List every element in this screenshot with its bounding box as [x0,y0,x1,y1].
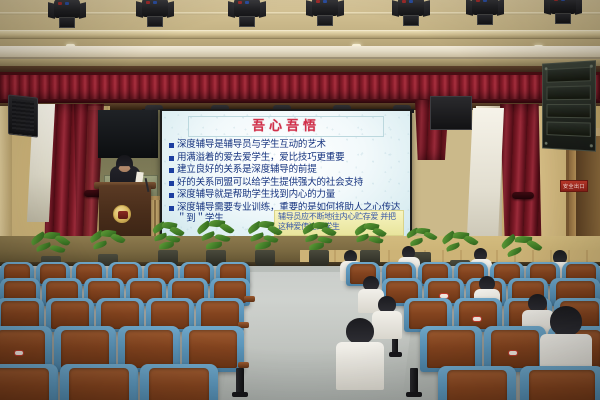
ceiling-soffit [0,46,600,59]
bullet-square-icon [169,181,174,186]
bullet-text: 深度辅导是辅导员与学生互动的艺术 [177,139,326,151]
auditorium-seat[interactable] [438,366,516,400]
auditorium-seat[interactable] [0,364,58,400]
stage-spotlight-icon [396,0,426,28]
seat-foot [406,392,422,397]
audience-member [336,318,384,388]
bullet-square-icon [169,193,174,198]
seat-foot [232,392,248,397]
bullet-square-icon [169,143,174,148]
bullet-text: 建立良好的关系是深度辅导的前提 [177,164,317,176]
ceiling [0,0,600,46]
ceiling-rail [0,30,600,39]
curtain-tieback [512,192,534,199]
seat-leg [410,368,418,394]
institution-emblem-icon [113,205,131,223]
ceiling-soffit-shadow [0,59,600,66]
potted-plant [300,222,338,266]
slide-bullet-item: 深度辅导是辅导员与学生互动的艺术 [169,139,406,151]
exit-sign-label: 安全出口 [563,183,585,190]
bullet-square-icon [169,156,174,161]
bullet-text: 好的关系同盟可以给学生提供强大的社会支持 [177,177,363,189]
presentation-slide: 吾心吾悟 深度辅导是辅导员与学生互动的艺术 用满溢着的爱去爱学生，爱比技巧更重要… [162,111,410,238]
auditorium-seat[interactable] [520,366,600,400]
auditorium-seat[interactable] [60,364,138,400]
seat-leg [236,368,244,394]
bullet-square-icon [169,168,174,173]
stage-spotlight-icon [548,0,578,26]
stage-spotlight-icon [470,0,500,27]
bullet-text: 用满溢着的爱去爱学生，爱比技巧更重要 [177,152,344,164]
exit-sign: 安全出口 [560,180,588,192]
potted-plant [246,221,284,266]
dark-stage-panel [98,110,158,158]
line-array-speaker-icon [542,60,596,152]
stage-spotlight-icon [310,0,340,28]
stage-spotlight-icon [232,0,262,29]
stage-valance [0,72,600,102]
stage-spotlight-icon [52,0,82,30]
auditorium-photo: 安全出口 吾心吾悟 深度辅导是辅导员与学生互动的艺术 [0,0,600,400]
auditorium-seat[interactable] [140,364,218,400]
wall-speaker-icon [8,94,38,137]
slide-bullet-item: 建立良好的关系是深度辅导的前提 [169,164,406,176]
bullet-square-icon [169,206,174,211]
stage-spotlight-icon [140,0,170,29]
bullet-text: 深度辅导就是帮助学生找到内心的力量 [177,189,335,201]
wall-speaker-icon [430,96,472,130]
slide-bullet-item: 好的关系同盟可以给学生提供强大的社会支持 [169,177,406,189]
ceiling-seam [0,12,600,15]
slide-title: 吾心吾悟 [252,120,320,133]
slide-bullet-item: 深度辅导就是帮助学生找到内心的力量 [169,189,406,201]
slide-bullet-item: 用满溢着的爱去爱学生，爱比技巧更重要 [169,152,406,164]
potted-plant [196,220,236,266]
slide-title-box: 吾心吾悟 [188,116,384,137]
seat-foot [389,352,402,357]
potted-plant [150,222,186,266]
